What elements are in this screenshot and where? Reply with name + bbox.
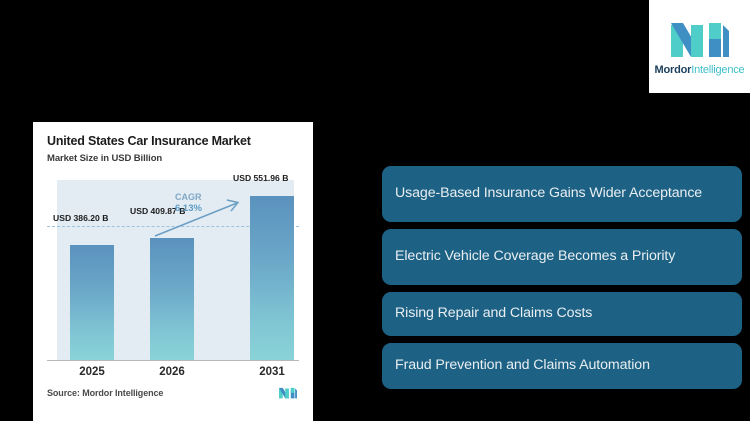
trend-card-label: Fraud Prevention and Claims Automation [395, 356, 650, 375]
bar-2026[interactable] [150, 238, 194, 360]
mordor-intelligence-logo: MordorIntelligence [649, 0, 750, 93]
trend-card-label: Rising Repair and Claims Costs [395, 304, 592, 323]
trend-card-electric-vehicle-coverage[interactable]: Electric Vehicle Coverage Becomes a Prio… [382, 229, 742, 285]
x-tick-2025: 2025 [60, 366, 124, 378]
source-label: Source: Mordor Intelligence [47, 388, 163, 398]
chart-title: United States Car Insurance Market [47, 134, 299, 150]
cagr-label: CAGR [175, 192, 202, 203]
bar-chart-plot-area: USD 386.20 B USD 409.87 B USD 551.96 B C… [47, 180, 299, 376]
chart-subtitle: Market Size in USD Billion [47, 153, 299, 164]
cagr-annotation: CAGR 6.13% [175, 192, 202, 215]
value-label-2031: USD 551.96 B [233, 173, 288, 183]
trend-card-label: Usage-Based Insurance Gains Wider Accept… [395, 184, 702, 203]
trend-card-fraud-prevention[interactable]: Fraud Prevention and Claims Automation [382, 343, 742, 389]
cagr-value: 6.13% [175, 203, 202, 215]
trend-card-usage-based-insurance[interactable]: Usage-Based Insurance Gains Wider Accept… [382, 166, 742, 222]
trend-card-label: Electric Vehicle Coverage Becomes a Prio… [395, 247, 675, 266]
x-axis-line [47, 360, 299, 361]
plot-band-right-margin [294, 180, 299, 360]
slide-canvas: MordorIntelligence United States Car Ins… [0, 0, 750, 421]
x-tick-2031: 2031 [240, 366, 304, 378]
bar-2031[interactable] [250, 196, 294, 360]
trend-cards-list: Usage-Based Insurance Gains Wider Accept… [382, 166, 742, 389]
trend-card-rising-repair-costs[interactable]: Rising Repair and Claims Costs [382, 292, 742, 336]
chart-source-row: Source: Mordor Intelligence [47, 386, 299, 399]
plot-band-left-margin [47, 180, 57, 360]
value-label-2025: USD 386.20 B [53, 213, 108, 223]
logo-word-mordor: Mordor [655, 64, 692, 76]
logo-word-intelligence: Intelligence [691, 64, 744, 76]
x-tick-2026: 2026 [140, 366, 204, 378]
logo-wordmark: MordorIntelligence [655, 65, 745, 76]
source-logo-mark-icon [277, 386, 299, 399]
bar-2025[interactable] [70, 245, 114, 360]
market-size-chart-panel: United States Car Insurance Market Marke… [33, 122, 313, 421]
mordor-logo-mark-icon [669, 17, 731, 59]
